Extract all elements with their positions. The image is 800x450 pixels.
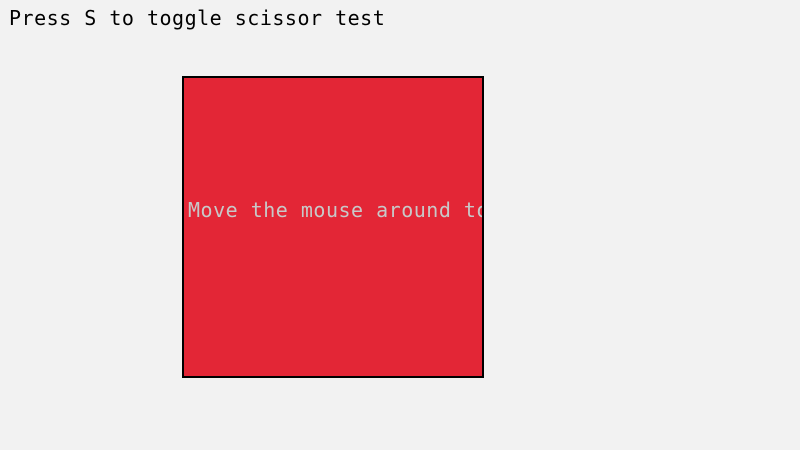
scissor-clipped-message: Move the mouse around to reveal the scis…	[188, 200, 484, 220]
scissor-toggle-hint: Press S to toggle scissor test	[9, 8, 385, 28]
scissor-region-rect[interactable]: Move the mouse around to reveal the scis…	[182, 76, 484, 378]
raylib-canvas[interactable]: Press S to toggle scissor test Move the …	[0, 0, 800, 450]
